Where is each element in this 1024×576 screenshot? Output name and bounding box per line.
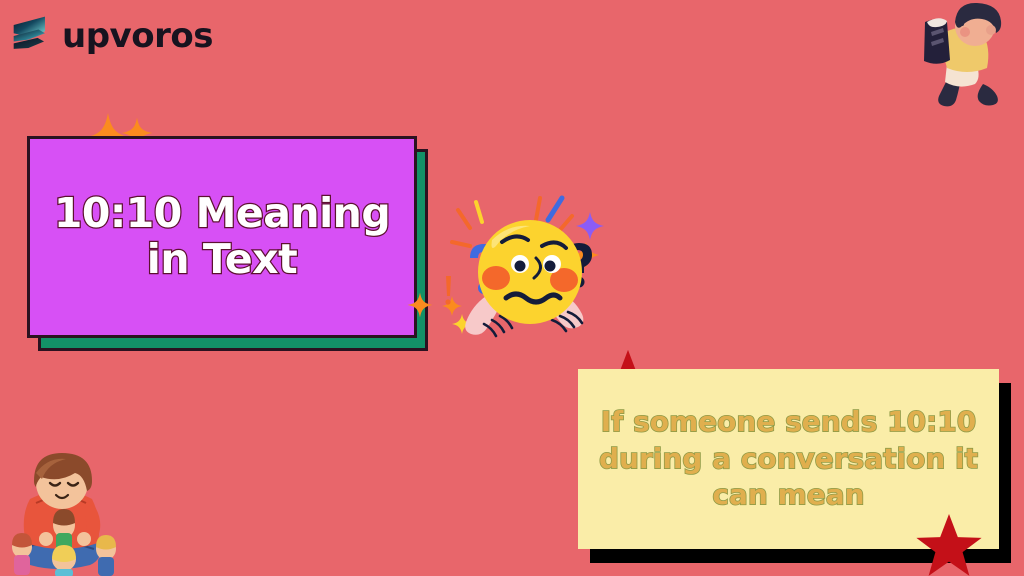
star-bottom-right-icon	[915, 512, 983, 576]
child-playing-with-dolls-illustration	[0, 443, 130, 576]
brand-logo[interactable]: upvoros	[10, 8, 220, 64]
boy-with-bag-illustration	[905, 2, 1023, 114]
slide-canvas: upvoros	[0, 0, 1024, 576]
confused-thinking-face-emoji	[440, 180, 620, 360]
sparkle-corner-icon	[407, 292, 433, 318]
page-title: 10:10 Meaning in Text	[30, 191, 414, 283]
brand-name: upvoros	[62, 19, 213, 53]
quote-text: If someone sends 10:10 during a conversa…	[578, 404, 999, 515]
stacked-layers-icon	[10, 13, 56, 59]
title-card: 10:10 Meaning in Text	[27, 136, 417, 338]
title-card-body: 10:10 Meaning in Text	[27, 136, 417, 338]
